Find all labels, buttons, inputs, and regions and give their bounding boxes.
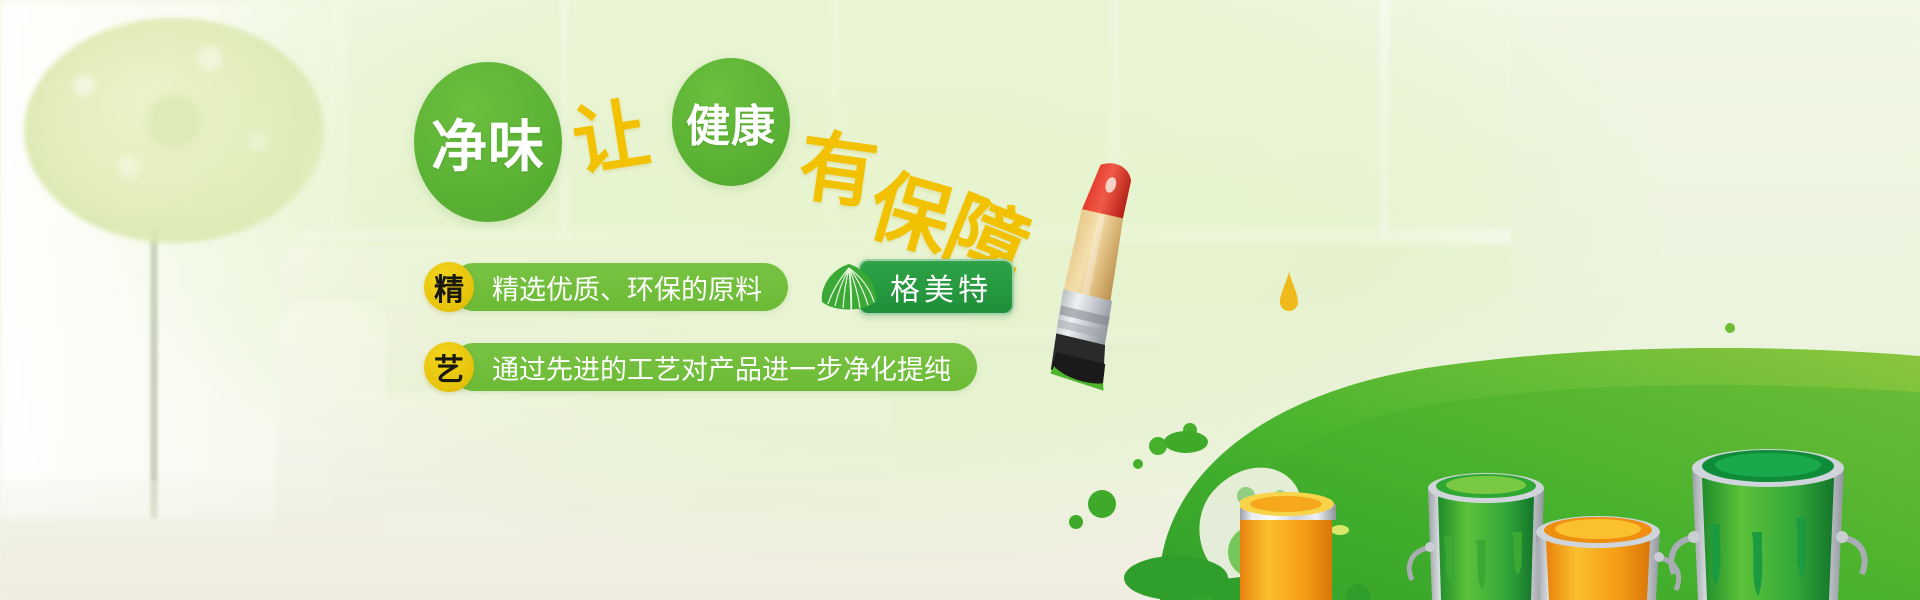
paint-can-orange-left [1240,492,1336,600]
headline-jingwei-badge: 净味 [414,62,562,222]
headline-jiankang-text: 健康 [686,90,776,154]
headline: 净味 让 健康 有 保 障 [0,0,1100,260]
headline-jiankang-badge: 健康 [672,58,790,186]
feature-badge-yi: 艺 [424,342,474,392]
promo-banner: 净味 让 健康 有 保 障 精 精选优质、环保的原料 [0,0,1920,600]
paint-can-green-right [1671,449,1864,600]
brand-name: 格美特 [858,259,1014,315]
feature-text-1: 精选优质、环保的原料 [450,263,788,311]
feature-badge-jing: 精 [424,262,474,312]
brand-lockup: 格美特 [818,258,1014,316]
yellow-paint-drip-icon [1278,272,1300,314]
feature-row-2: 艺 通过先进的工艺对产品进一步净化提纯 [424,340,977,394]
paint-can-orange-right [1536,516,1679,600]
feature-text-2: 通过先进的工艺对产品进一步净化提纯 [450,343,977,391]
ginkgo-leaf-icon [818,258,880,316]
paint-can-green-mid [1409,473,1544,600]
feature-row-1: 精 精选优质、环保的原料 [424,260,788,314]
headline-rang-text: 让 [564,71,656,192]
headline-jingwei-text: 净味 [431,102,545,183]
paint-can-group [1240,440,1920,600]
